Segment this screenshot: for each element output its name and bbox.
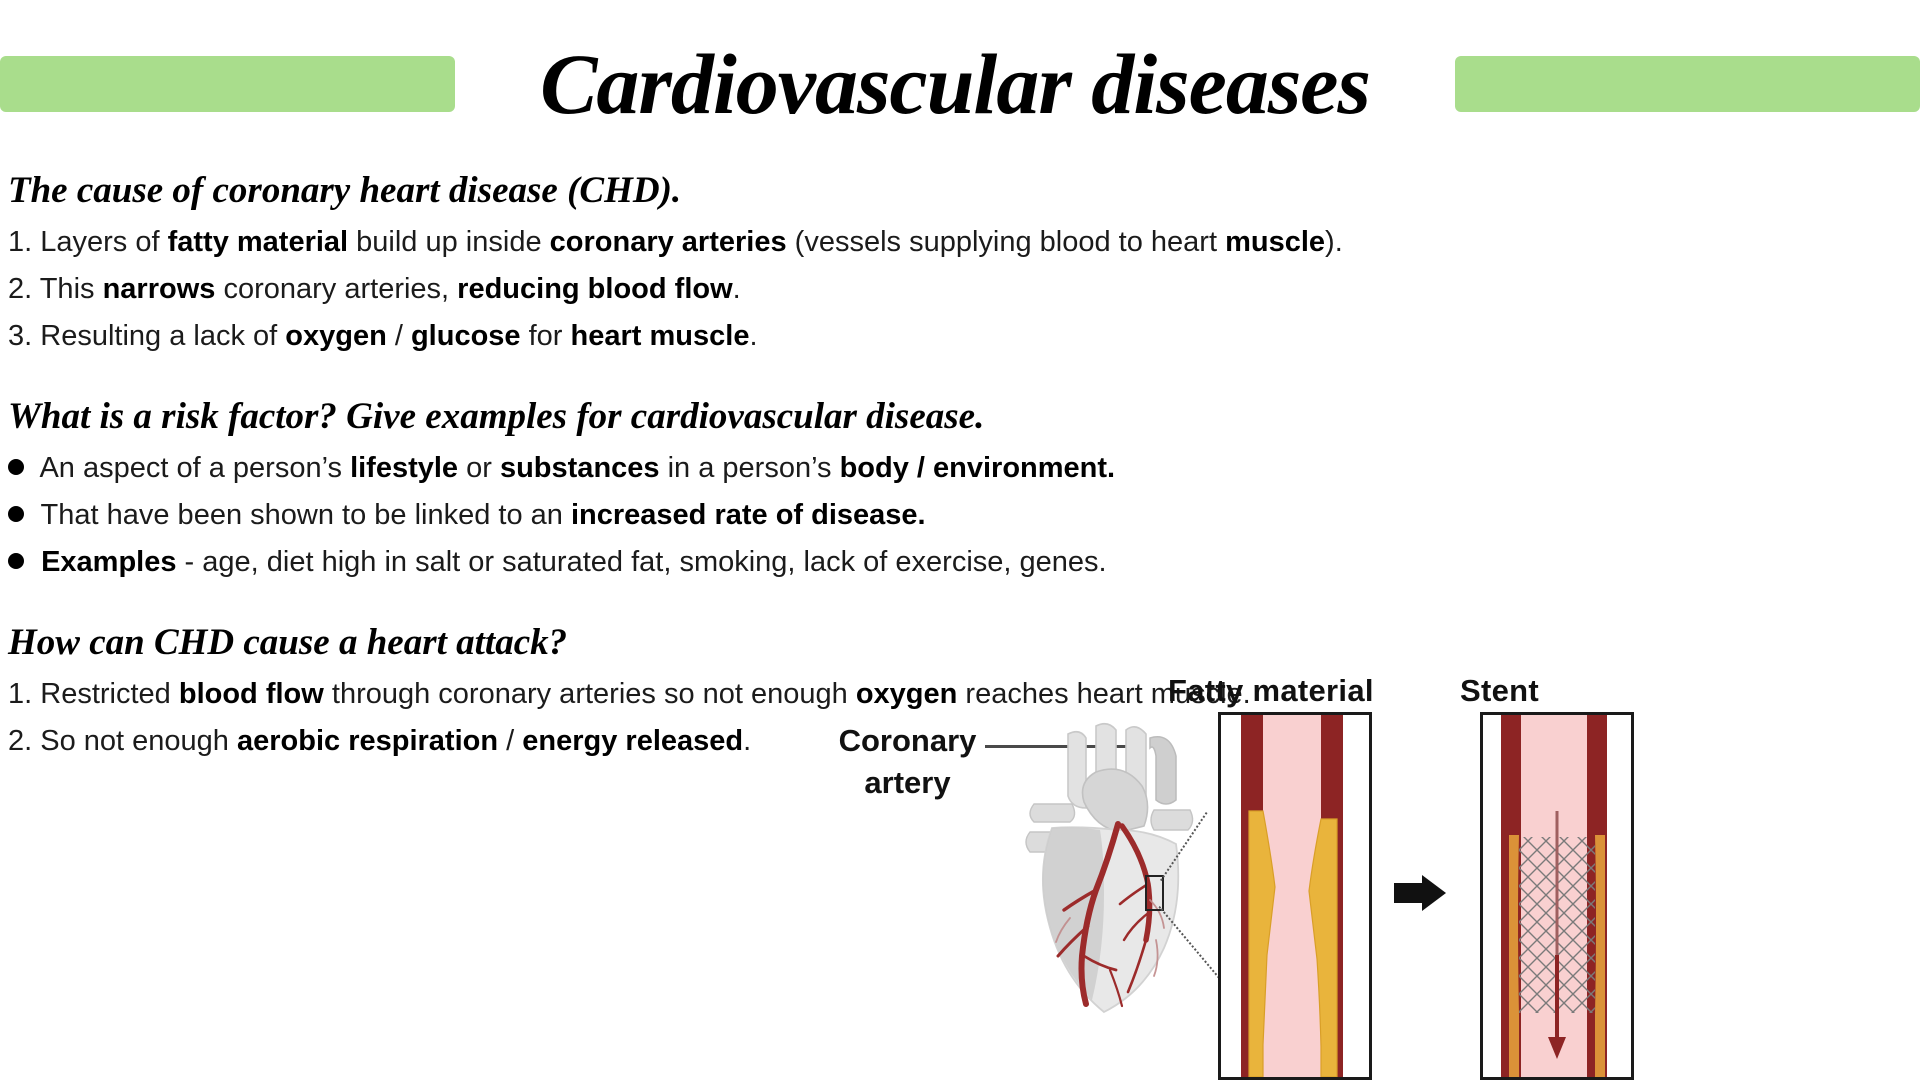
content-section: The cause of coronary heart disease (CHD… [8,168,1508,360]
emphasis-text: fatty material [168,226,349,258]
list-marker: 2. [8,273,32,305]
body-text: - age, diet high in salt or saturated fa… [176,546,1106,578]
body-text [33,546,41,578]
list-marker: 1. [8,226,32,258]
list-marker: 3. [8,320,32,352]
emphasis-text: Examples [41,546,176,578]
emphasis-text: substances [500,452,660,484]
bullet-dot-icon [8,506,24,522]
emphasis-text: glucose [411,320,521,352]
emphasis-text: coronary arteries [550,226,787,258]
content-section: What is a risk factor? Give examples for… [8,394,1508,586]
green-highlight-bar-right [1455,56,1920,112]
numbered-item: 2. This narrows coronary arteries, reduc… [8,266,1508,313]
body-text: That have been shown to be linked to an [33,499,571,531]
fatty-material-vessel-panel [1218,712,1372,1080]
stent-panel-title: Stent [1460,673,1539,709]
slide-title-row: Cardiovascular diseases [0,56,1920,120]
section-heading: The cause of coronary heart disease (CHD… [8,168,1508,213]
body-text: ). [1325,226,1343,258]
body-text: . [749,320,757,352]
body-text: build up inside [348,226,550,258]
list-marker: 1. [8,678,32,710]
emphasis-text: aerobic respiration [237,725,498,757]
body-text: So not enough [32,725,237,757]
body-text: . [743,725,751,757]
body-text: Restricted [32,678,179,710]
emphasis-text: body / environment. [840,452,1116,484]
section-heading: What is a risk factor? Give examples for… [8,394,1508,439]
bullet-item: Examples - age, diet high in salt or sat… [8,539,1508,586]
body-text: Resulting a lack of [32,320,285,352]
emphasis-text: oxygen [285,320,387,352]
emphasis-text: heart muscle [571,320,750,352]
coronary-artery-figure: Fatty material Stent Coronary artery [990,690,1920,1080]
body-text: in a person’s [660,452,840,484]
emphasis-text: oxygen [856,678,958,710]
emphasis-text: increased rate of disease. [571,499,926,531]
body-text: coronary arteries, [215,273,457,305]
body-text: / [387,320,411,352]
stent-mesh-graphic [1483,715,1631,1077]
body-text: for [521,320,571,352]
bullet-dot-icon [8,553,24,569]
body-text: . [733,273,741,305]
emphasis-text: lifestyle [350,452,458,484]
body-text: through coronary arteries so not enough [324,678,856,710]
stent-vessel-panel [1480,712,1634,1080]
heart-illustration [1000,704,1230,1034]
list-marker: 2. [8,725,32,757]
numbered-item: 1. Layers of fatty material build up ins… [8,219,1508,266]
body-text: An aspect of a person’s [33,452,350,484]
bullet-item: That have been shown to be linked to an … [8,492,1508,539]
coronary-artery-label: Coronary artery [820,720,995,804]
fatty-deposit-shapes [1221,715,1369,1077]
coronary-artery-label-line2: artery [820,762,995,804]
page-title: Cardiovascular diseases [480,34,1430,134]
bullet-item: An aspect of a person’s lifestyle or sub… [8,445,1508,492]
section-heading: How can CHD cause a heart attack? [8,620,1508,665]
emphasis-text: blood flow [179,678,324,710]
green-highlight-bar-left [0,56,455,112]
body-text: or [458,452,500,484]
numbered-item: 3. Resulting a lack of oxygen / glucose … [8,313,1508,360]
emphasis-text: muscle [1225,226,1325,258]
emphasis-text: reducing blood flow [457,273,732,305]
emphasis-text: energy released [522,725,743,757]
body-text: This [32,273,102,305]
emphasis-text: narrows [103,273,216,305]
coronary-artery-label-line1: Coronary [820,720,995,762]
body-text: Layers of [32,226,167,258]
bullet-dot-icon [8,459,24,475]
body-text: / [498,725,522,757]
body-text: (vessels supplying blood to heart [787,226,1225,258]
